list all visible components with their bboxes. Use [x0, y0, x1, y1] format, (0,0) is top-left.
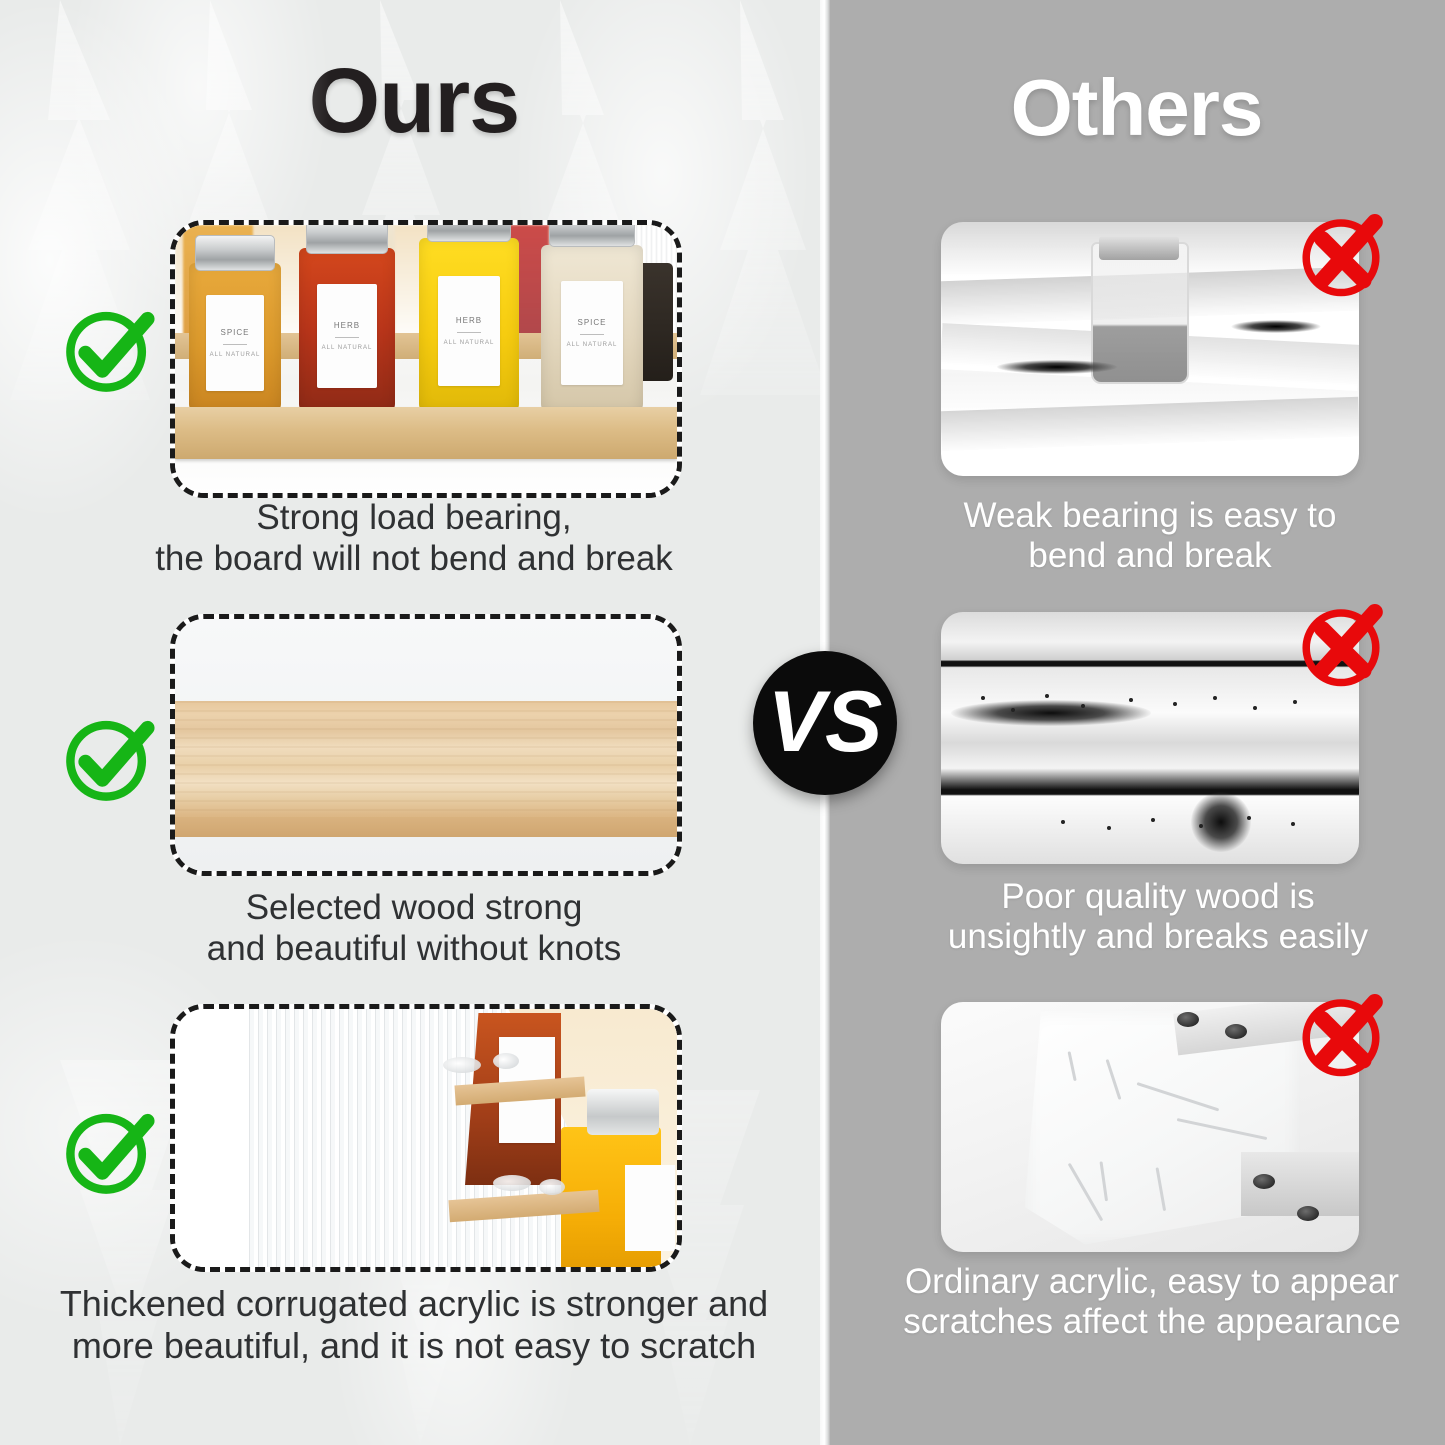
- comparison-infographic: Ours Others SPICE: [0, 0, 1445, 1445]
- ours-selected-wood-photo: [170, 614, 682, 876]
- cross-circle-icon: [1294, 597, 1388, 691]
- cross-circle-icon: [1294, 207, 1388, 301]
- ours-corrugated-acrylic-photo: [170, 1004, 682, 1272]
- others-caption-2: Poor quality wood is unsightly and break…: [938, 877, 1378, 958]
- svg-text:VS: VS: [768, 674, 883, 770]
- ours-caption-3: Thickened corrugated acrylic is stronger…: [0, 1283, 828, 1367]
- jar-label-sub: ALL NATURAL: [210, 352, 261, 358]
- cross-circle-icon: [1294, 987, 1388, 1081]
- check-circle-icon: [61, 712, 155, 806]
- others-caption-3: Ordinary acrylic, easy to appear scratch…: [882, 1262, 1422, 1343]
- others-caption-1: Weak bearing is easy to bend and break: [938, 496, 1362, 577]
- others-title: Others: [828, 68, 1445, 148]
- ours-title: Ours: [0, 55, 828, 147]
- check-circle-icon: [61, 303, 155, 397]
- ours-load-bearing-photo: SPICE ALL NATURAL HERBALL NATURAL HERBAL…: [170, 220, 682, 498]
- ours-caption-1: Strong load bearing, the board will not …: [0, 498, 828, 579]
- vs-badge-icon: VS: [753, 651, 897, 795]
- ours-caption-2: Selected wood strong and beautiful witho…: [0, 888, 828, 969]
- jar-label-title: SPICE: [220, 328, 249, 337]
- check-circle-icon: [61, 1105, 155, 1199]
